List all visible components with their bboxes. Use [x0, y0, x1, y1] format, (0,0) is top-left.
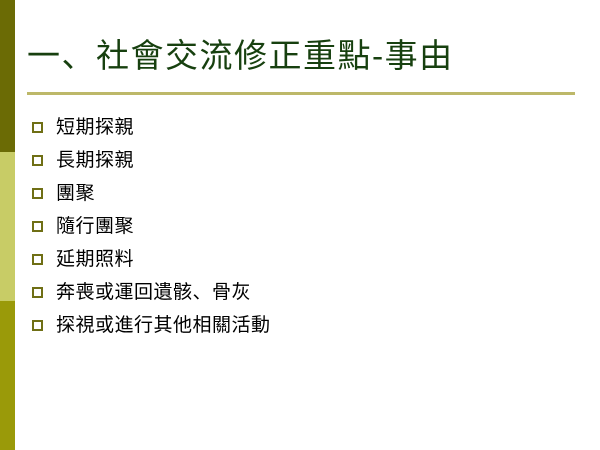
list-item-label: 團聚	[56, 184, 95, 203]
presentation-slide: 一、社會交流修正重點-事由 短期探親長期探親團聚隨行團聚延期照料奔喪或運回遺骸、…	[0, 0, 600, 450]
bullet-list: 短期探親長期探親團聚隨行團聚延期照料奔喪或運回遺骸、骨灰探視或進行其他相關活動	[32, 111, 572, 342]
list-item[interactable]: 奔喪或運回遺骸、骨灰	[32, 276, 572, 309]
page-title: 一、社會交流修正重點-事由	[27, 36, 577, 76]
square-outline-icon	[32, 221, 43, 232]
square-outline-icon	[32, 155, 43, 166]
list-item-label: 短期探親	[56, 118, 134, 137]
list-item-label: 長期探親	[56, 151, 134, 170]
sidebar-segment-bottom	[0, 301, 15, 450]
square-outline-icon	[32, 320, 43, 331]
list-item[interactable]: 長期探親	[32, 144, 572, 177]
title-block: 一、社會交流修正重點-事由	[27, 36, 577, 76]
list-item[interactable]: 延期照料	[32, 243, 572, 276]
sidebar-segment-top	[0, 0, 15, 152]
square-outline-icon	[32, 188, 43, 199]
title-divider	[27, 92, 575, 95]
square-outline-icon	[32, 287, 43, 298]
sidebar-decoration	[0, 0, 15, 450]
list-item[interactable]: 短期探親	[32, 111, 572, 144]
sidebar-segment-middle	[0, 152, 15, 301]
list-item[interactable]: 探視或進行其他相關活動	[32, 309, 572, 342]
square-outline-icon	[32, 122, 43, 133]
list-item-label: 延期照料	[56, 250, 134, 269]
list-item[interactable]: 隨行團聚	[32, 210, 572, 243]
square-outline-icon	[32, 254, 43, 265]
list-item-label: 隨行團聚	[56, 217, 134, 236]
list-item-label: 奔喪或運回遺骸、骨灰	[56, 283, 251, 302]
list-item[interactable]: 團聚	[32, 177, 572, 210]
list-item-label: 探視或進行其他相關活動	[56, 316, 271, 335]
